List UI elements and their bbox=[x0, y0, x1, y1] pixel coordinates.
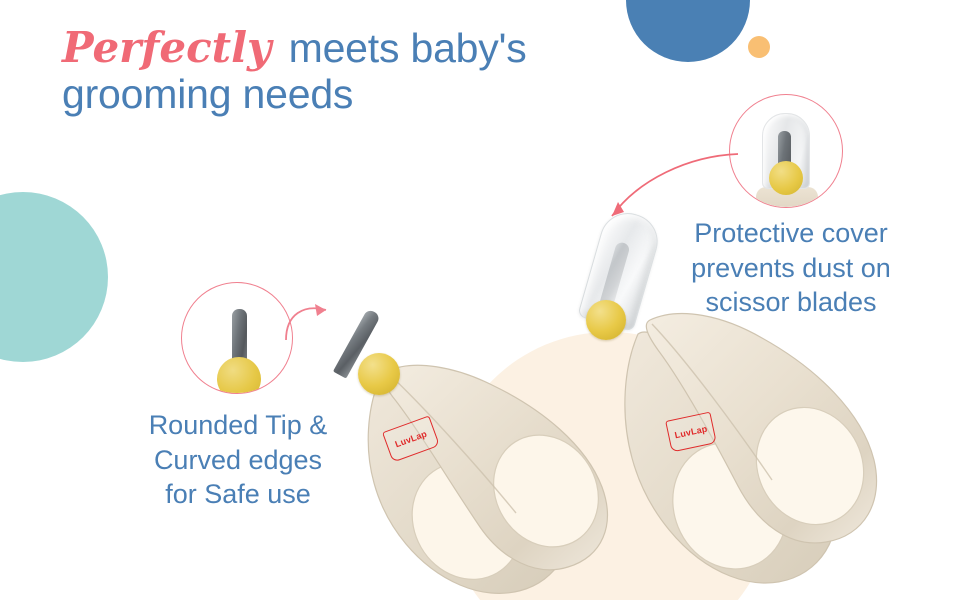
callout-circle-protective-cover bbox=[729, 94, 843, 208]
zoomed-pivot-dome bbox=[217, 357, 261, 394]
callout-circle-rounded-tip bbox=[181, 282, 293, 394]
decor-teal-circle bbox=[0, 192, 108, 362]
headline-accent-word: Perfectly bbox=[62, 23, 277, 72]
caption-right-line-1: Protective cover bbox=[660, 216, 922, 251]
callout-arrow-left bbox=[282, 296, 352, 348]
decor-blue-circle bbox=[626, 0, 750, 62]
headline: Perfectly meets baby's grooming needs bbox=[62, 24, 622, 118]
scissors-left-pivot bbox=[358, 353, 400, 395]
caption-rounded-tip: Rounded Tip & Curved edges for Safe use bbox=[108, 408, 368, 512]
caption-right-line-3: scissor blades bbox=[660, 285, 922, 320]
caption-left-line-3: for Safe use bbox=[108, 477, 368, 512]
caption-left-line-1: Rounded Tip & bbox=[108, 408, 368, 443]
zoomed-pivot-disc bbox=[769, 161, 803, 195]
caption-right-line-2: prevents dust on bbox=[660, 251, 922, 286]
headline-line2: grooming needs bbox=[62, 72, 622, 118]
caption-left-line-2: Curved edges bbox=[108, 443, 368, 478]
brand-text: LuvLap bbox=[674, 424, 709, 441]
caption-protective-cover: Protective cover prevents dust on scisso… bbox=[660, 216, 922, 320]
headline-line1-rest: meets baby's bbox=[277, 25, 526, 71]
brand-text: LuvLap bbox=[394, 429, 429, 450]
infographic-canvas: Perfectly meets baby's grooming needs bbox=[0, 0, 970, 600]
decor-orange-dot bbox=[748, 36, 770, 58]
scissors-right-pivot bbox=[586, 300, 626, 340]
